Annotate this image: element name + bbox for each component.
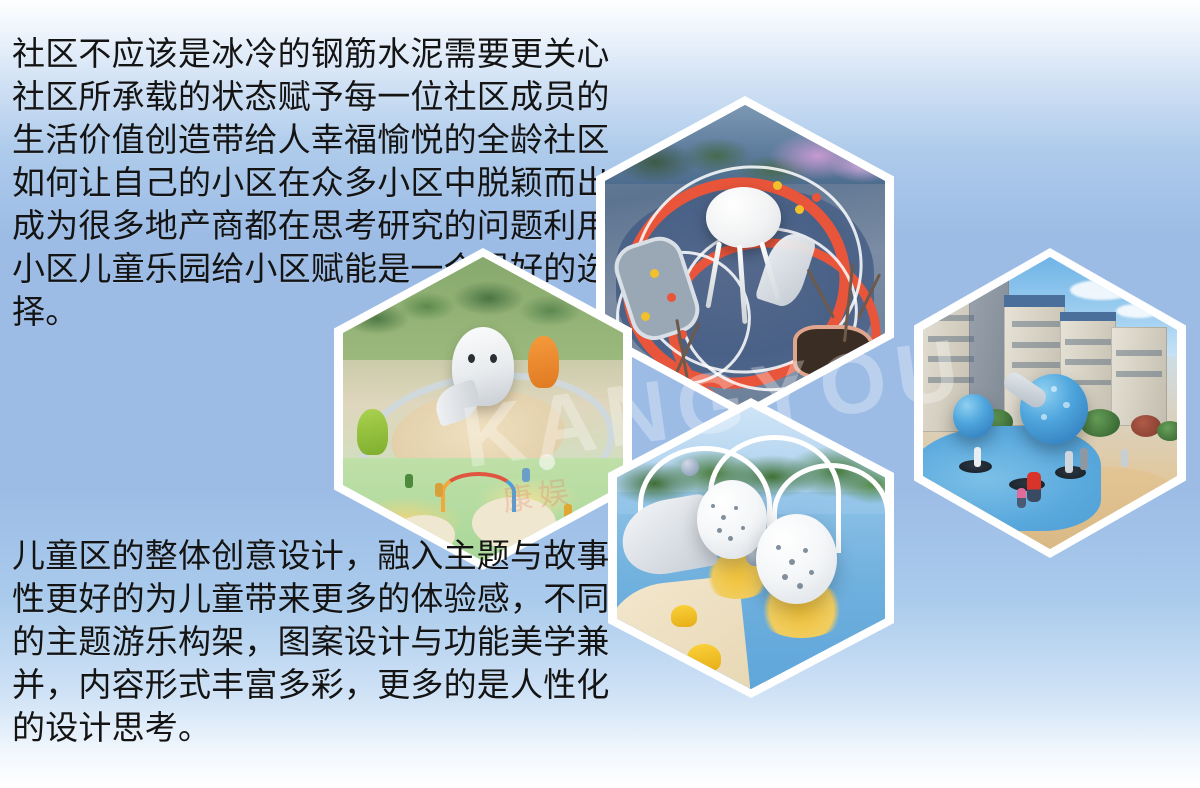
cloud (1070, 280, 1134, 300)
window-row (928, 315, 974, 321)
sphere-speck (734, 506, 738, 510)
person-figure (1080, 448, 1088, 470)
window-row (928, 356, 974, 362)
sphere-perforation (1051, 386, 1056, 392)
sphere-speck (809, 570, 814, 575)
window-row (1116, 371, 1162, 377)
sphere-speck (711, 504, 715, 508)
window-row (1012, 362, 1060, 368)
person-figure (974, 447, 981, 467)
sphere-speck (741, 526, 745, 530)
sphere-perforation (1063, 402, 1069, 408)
sphere-speck (782, 574, 788, 580)
design-description-paragraph: 儿童区的整体创意设计，融入主题与故事性更好的为儿童带来更多的体验感，不同的主题游… (12, 534, 612, 749)
orange-animal-structure (528, 336, 559, 388)
swing-frame (539, 454, 555, 470)
window-row (1116, 350, 1162, 356)
green-animal-structure (357, 409, 388, 455)
sphere-speck (717, 528, 722, 533)
person-figure-red-coat (1027, 472, 1041, 502)
blue-rubber-floor (923, 426, 1101, 531)
whale-eye (468, 354, 475, 363)
play-figure (522, 468, 530, 482)
aerial-track-playground-scene (605, 105, 885, 409)
sphere-speck (776, 545, 781, 550)
tree-planter (793, 325, 874, 379)
sphere-speck (803, 548, 808, 553)
whale-eye (490, 354, 497, 363)
dandelion-sphere-playground-scene (617, 407, 885, 689)
cloud (1116, 304, 1160, 318)
residential-blue-sphere-playground-scene (923, 257, 1177, 549)
building-roof (1060, 312, 1116, 321)
sphere-perforation (1041, 414, 1046, 420)
hex-photo-frame (343, 257, 623, 561)
hex-photo-frame (923, 257, 1177, 549)
white-octopus-structure (706, 187, 782, 248)
yellow-mushroom-seat (687, 644, 721, 672)
marker-dot (773, 181, 782, 190)
sphere-speck (797, 583, 803, 589)
arc-knob (681, 458, 699, 476)
window-row (1065, 359, 1111, 365)
child-figure (1017, 488, 1026, 508)
hex-photo-residential-blue-sphere-playground[interactable] (914, 248, 1186, 558)
hex-photo-frame (605, 105, 885, 409)
dandelion-sphere-right (756, 514, 836, 604)
rainbow-climbing-arch (441, 472, 516, 512)
window-row (928, 336, 974, 342)
yellow-mushroom-seat (671, 605, 697, 627)
play-figure (564, 504, 572, 518)
residential-tower (1111, 327, 1167, 426)
window-row (1065, 339, 1111, 345)
window-row (1012, 321, 1060, 327)
hex-photo-aerial-track-playground[interactable] (596, 96, 894, 418)
person-figure (1065, 451, 1073, 473)
building-roof (1004, 295, 1065, 307)
blue-sphere-structure-small (953, 394, 994, 438)
sphere-speck (728, 536, 733, 541)
sphere-speck (721, 515, 726, 520)
play-figure (405, 474, 413, 488)
whale-sandpit-playground-scene (343, 257, 623, 561)
marker-dot (650, 269, 659, 278)
window-row (1012, 342, 1060, 348)
hex-photo-frame (617, 407, 885, 689)
play-figure (435, 483, 443, 497)
poster-canvas: 社区不应该是冰冷的钢筋水泥需要更关心社区所承载的状态赋予每一位社区成员的生活价值… (0, 0, 1200, 788)
street-tree (1157, 421, 1177, 441)
hex-photo-dandelion-sphere-playground[interactable] (608, 398, 894, 698)
sphere-speck (789, 559, 795, 565)
person-figure (1121, 449, 1128, 467)
window-row (928, 377, 974, 383)
